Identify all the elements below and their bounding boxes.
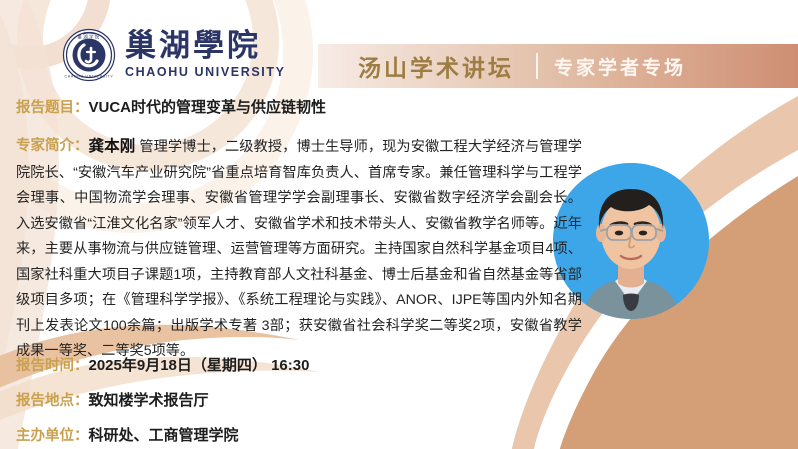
expert-bio-label: 专家简介： (16, 134, 89, 160)
expert-name: 龚本刚 (89, 138, 136, 155)
university-wordmark: 巢湖學院 CHAOHU UNIVERSITY (125, 31, 286, 79)
banner-subtitle: 专家学者专场 (554, 53, 686, 80)
lecture-series-banner: 汤山学术讲坛 专家学者专场 (318, 44, 798, 88)
svg-text:巢湖学院: 巢湖学院 (77, 34, 100, 41)
report-place-label: 报告地点： (16, 393, 89, 409)
university-emblem-icon: 巢湖学院 CHAOHU UNIVERSITY (62, 28, 116, 82)
report-time-label: 报告时间： (16, 358, 89, 374)
report-title-row: 报告题目：VUCA时代的管理变革与供应链韧性 (16, 96, 326, 117)
report-title-value: VUCA时代的管理变革与供应链韧性 (89, 99, 327, 116)
report-place-value: 致知楼学术报告厅 (89, 392, 209, 409)
university-name-en: CHAOHU UNIVERSITY (125, 66, 286, 79)
report-title-label: 报告题目： (16, 100, 89, 116)
university-name-cn: 巢湖學院 (125, 31, 286, 62)
banner-divider (536, 53, 538, 79)
report-organizer-row: 主办单位：科研处、工商管理学院 (16, 424, 239, 445)
banner-title: 汤山学术讲坛 (358, 49, 514, 83)
svg-text:CHAOHU UNIVERSITY: CHAOHU UNIVERSITY (64, 75, 113, 79)
expert-bio-body: 管理学博士，二级教授，博士生导师，现为安徽工程大学经济与管理学院院长、“安徽汽车… (16, 139, 582, 359)
report-organizer-label: 主办单位： (16, 428, 89, 444)
university-logo: 巢湖学院 CHAOHU UNIVERSITY 巢湖學院 CHAOHU UNIVE… (62, 28, 286, 82)
expert-bio-text: 龚本刚 管理学博士，二级教授，博士生导师，现为安徽工程大学经济与管理学院院长、“… (16, 134, 582, 365)
expert-bio-block: 专家简介： 龚本刚 管理学博士，二级教授，博士生导师，现为安徽工程大学经济与管理… (16, 134, 582, 365)
report-organizer-value: 科研处、工商管理学院 (89, 427, 239, 444)
report-time-value: 2025年9月18日（星期四） 16:30 (89, 357, 310, 374)
report-time-row: 报告时间：2025年9月18日（星期四） 16:30 (16, 354, 309, 375)
report-place-row: 报告地点：致知楼学术报告厅 (16, 389, 209, 410)
lecture-poster: 巢湖学院 CHAOHU UNIVERSITY 巢湖學院 CHAOHU UNIVE… (0, 0, 798, 449)
